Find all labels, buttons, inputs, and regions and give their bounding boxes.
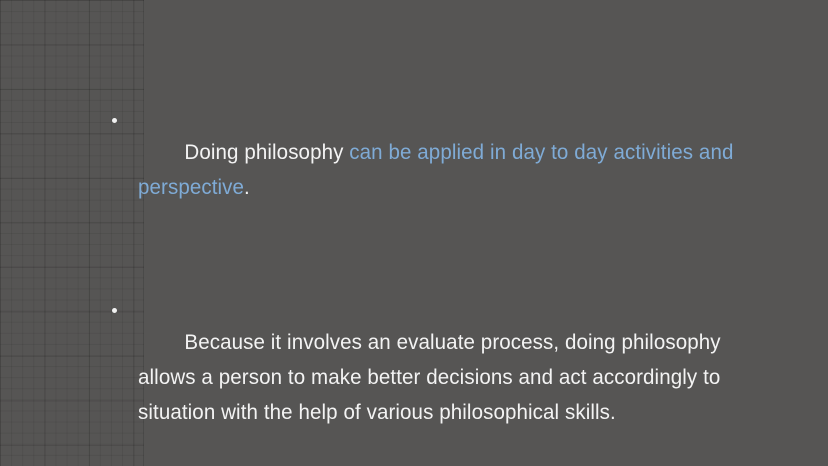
bullet-2-segment-1: Because it involves an evaluate process,… xyxy=(138,330,726,424)
list-item: Because it involves an evaluate process,… xyxy=(112,290,772,465)
bullet-1-segment-3: . xyxy=(244,175,250,199)
bullet-marker-icon xyxy=(112,100,138,126)
bullet-text-1: Doing philosophy can be applied in day t… xyxy=(138,100,743,240)
bullet-marker-icon xyxy=(112,290,138,316)
bullet-text-2: Because it involves an evaluate process,… xyxy=(138,290,743,465)
slide-canvas: Doing philosophy can be applied in day t… xyxy=(0,0,828,466)
slide-body-content: Doing philosophy can be applied in day t… xyxy=(112,100,772,465)
bullet-1-segment-1: Doing philosophy xyxy=(184,140,349,164)
list-item: Doing philosophy can be applied in day t… xyxy=(112,100,772,240)
